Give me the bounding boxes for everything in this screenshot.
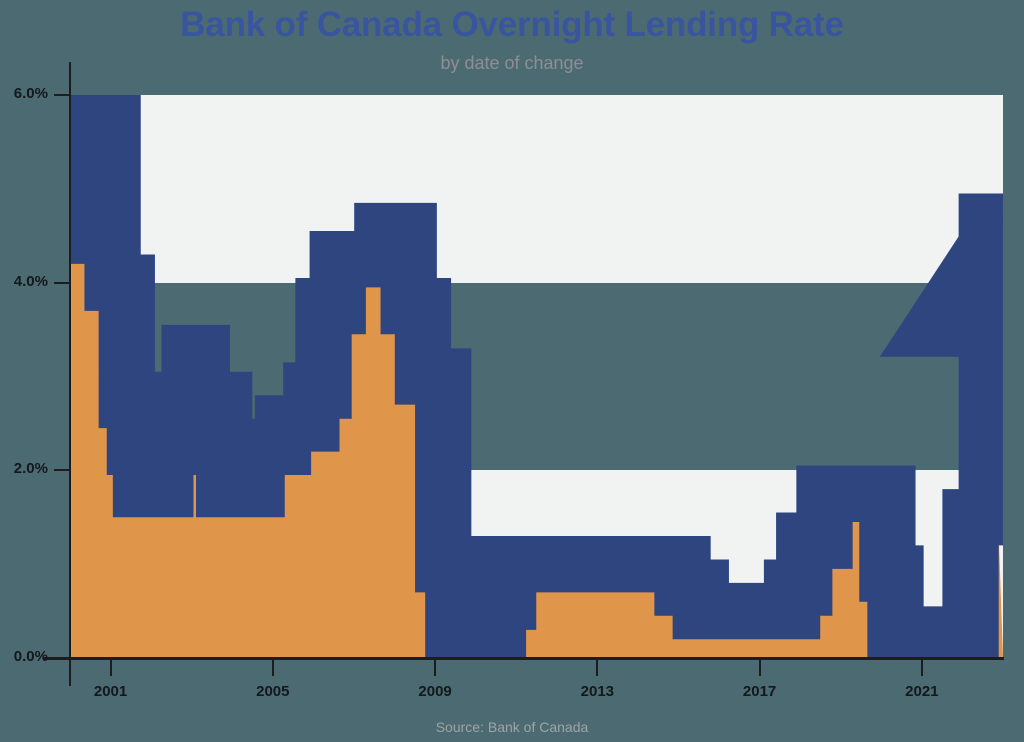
plot-area [70, 95, 1003, 658]
x-axis-label: 2001 [71, 683, 151, 701]
x-axis-tick [596, 660, 598, 676]
chart-source-note: Source: Bank of Canada [0, 718, 1024, 736]
x-axis-tick [759, 660, 761, 676]
x-axis-label: 2005 [233, 683, 313, 701]
y-axis-label: 4.0% [0, 274, 48, 290]
x-axis-label: 2021 [882, 683, 962, 701]
area-chart-series [70, 95, 1003, 658]
y-axis-label: 6.0% [0, 86, 48, 102]
page-title: Bank of Canada Overnight Lending Rate [0, 4, 1024, 46]
chart-page: Bank of Canada Overnight Lending Rate by… [0, 0, 1024, 742]
y-axis-tick [54, 469, 70, 471]
x-axis-tick [434, 660, 436, 676]
x-axis-tick [272, 660, 274, 676]
y-axis-line [69, 62, 71, 686]
y-axis-tick [54, 282, 70, 284]
y-axis-label: 2.0% [0, 461, 48, 477]
y-axis-label: 0.0% [0, 649, 48, 665]
trend-arrow-icon [880, 194, 1003, 357]
x-axis-label: 2009 [395, 683, 475, 701]
chart-subtitle: by date of change [0, 52, 1024, 74]
x-axis-label: 2013 [557, 683, 637, 701]
x-axis-label: 2017 [720, 683, 800, 701]
y-axis-tick [54, 94, 70, 96]
x-axis-tick [921, 660, 923, 676]
y-axis-tick [54, 657, 70, 659]
x-axis-tick [110, 660, 112, 676]
x-axis-line [44, 657, 1004, 660]
